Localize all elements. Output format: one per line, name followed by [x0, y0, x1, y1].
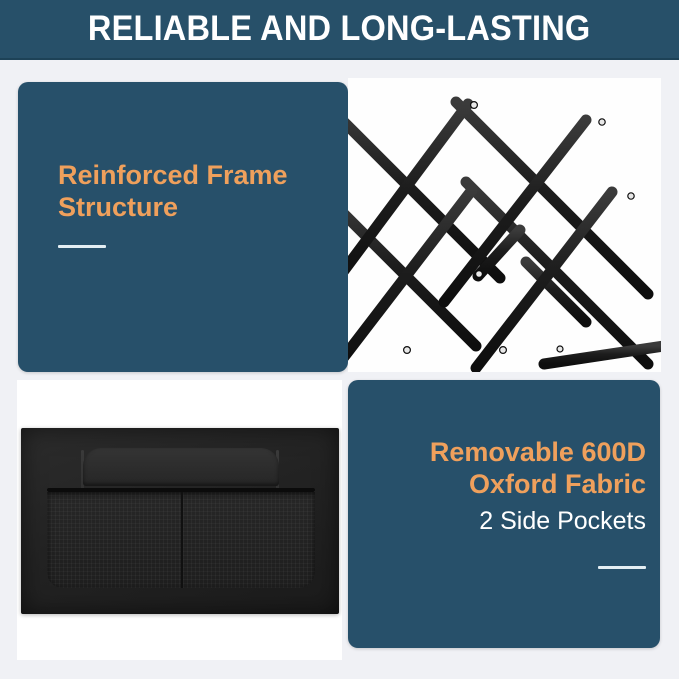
oxford-fabric-headline-line1: Removable 600D — [430, 437, 646, 467]
oxford-fabric-headline-line2: Oxford Fabric — [469, 469, 646, 499]
reinforced-frame-card-text: Reinforced Frame Structure — [58, 160, 328, 248]
fabric-photo-panel — [17, 380, 342, 660]
pocket-divider — [181, 492, 183, 588]
oxford-fabric-headline: Removable 600D Oxford Fabric — [366, 437, 646, 500]
header-banner: RELIABLE AND LONG-LASTING — [0, 0, 679, 60]
oxford-fabric-photo — [17, 380, 342, 660]
banner-title: RELIABLE AND LONG-LASTING — [88, 11, 591, 46]
oxford-fabric-divider — [598, 566, 646, 569]
fabric-side-pockets — [47, 492, 315, 588]
fabric-body — [21, 428, 339, 614]
reinforced-frame-card: Reinforced Frame Structure — [18, 82, 348, 372]
reinforced-frame-headline: Reinforced Frame Structure — [58, 160, 328, 223]
reinforced-frame-headline-line1: Reinforced Frame — [58, 160, 288, 190]
frame-photo-panel — [348, 78, 661, 372]
reinforced-frame-divider — [58, 245, 106, 248]
oxford-fabric-card: Removable 600D Oxford Fabric 2 Side Pock… — [348, 380, 660, 648]
oxford-fabric-subline: 2 Side Pockets — [366, 506, 646, 536]
scissor-frame-illustration — [348, 78, 661, 372]
scissor-frame-photo — [348, 78, 661, 372]
fabric-top-flap — [83, 448, 279, 486]
oxford-fabric-card-text: Removable 600D Oxford Fabric 2 Side Pock… — [366, 437, 646, 569]
reinforced-frame-headline-line2: Structure — [58, 192, 178, 222]
